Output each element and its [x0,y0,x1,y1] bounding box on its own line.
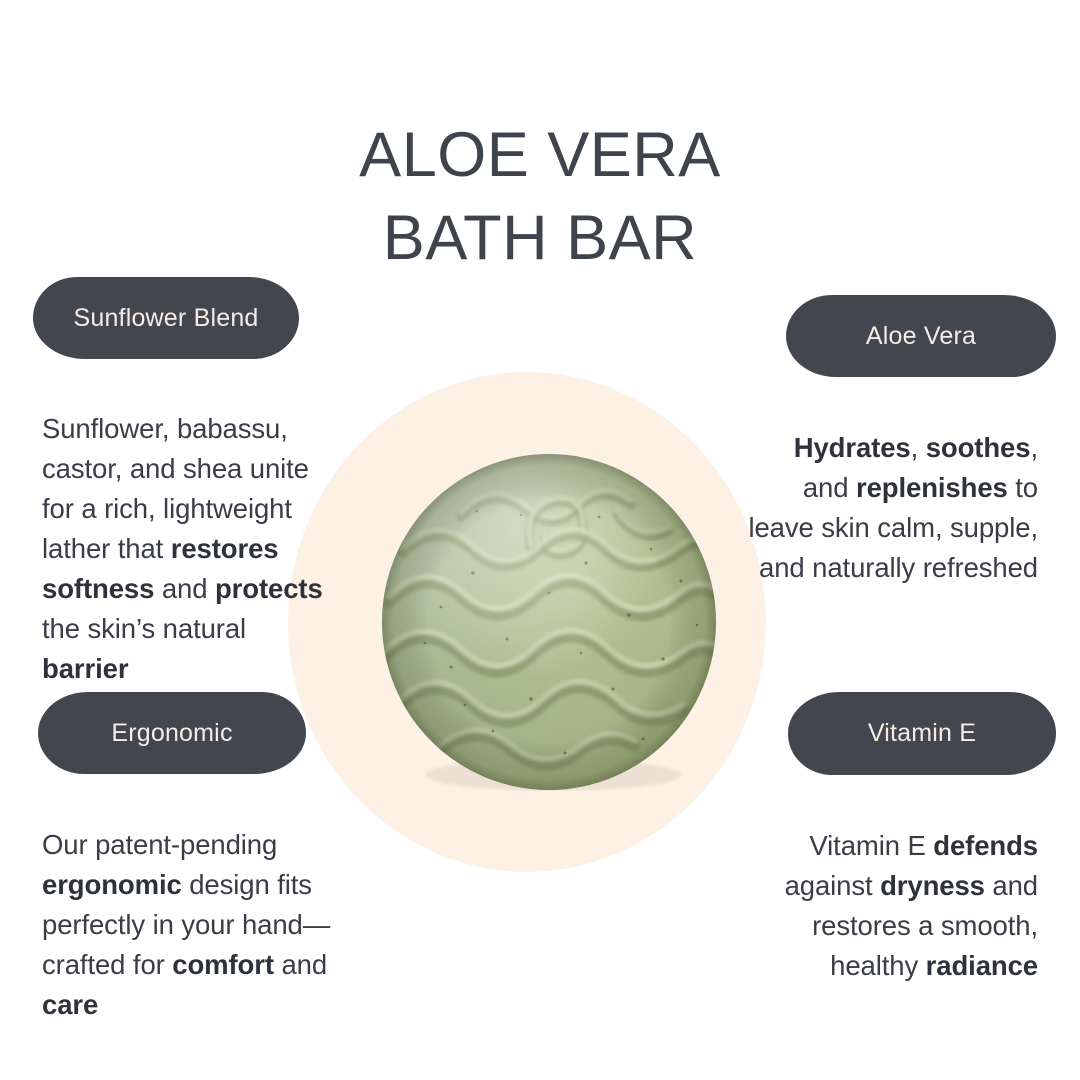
feature-pill-label: Aloe Vera [866,322,976,351]
feature-pill-label: Ergonomic [111,719,232,748]
feature-body-ergonomic: Our patent-pending ergonomic design fits… [42,825,334,1025]
soap-bar-illustration [381,453,717,791]
title-line-1: ALOE VERA [0,114,1080,197]
feature-body-vitamin-e: Vitamin E defends against dryness and re… [746,826,1038,986]
product-image-soap-bar [381,453,717,791]
title-line-2: BATH BAR [0,197,1080,280]
feature-pill-aloe-vera[interactable]: Aloe Vera [786,295,1056,377]
feature-body-aloe-vera: Hydrates, soothes, and replenishes to le… [748,428,1038,588]
feature-pill-ergonomic[interactable]: Ergonomic [38,692,306,774]
feature-pill-label: Vitamin E [868,719,976,748]
infographic-canvas: ALOE VERA BATH BAR [0,0,1080,1080]
page-title: ALOE VERA BATH BAR [0,114,1080,280]
feature-pill-vitamin-e[interactable]: Vitamin E [788,692,1056,775]
feature-pill-label: Sunflower Blend [73,304,258,333]
feature-body-sunflower-blend: Sunflower, babassu, castor, and shea uni… [42,409,332,689]
feature-pill-sunflower-blend[interactable]: Sunflower Blend [33,277,299,359]
